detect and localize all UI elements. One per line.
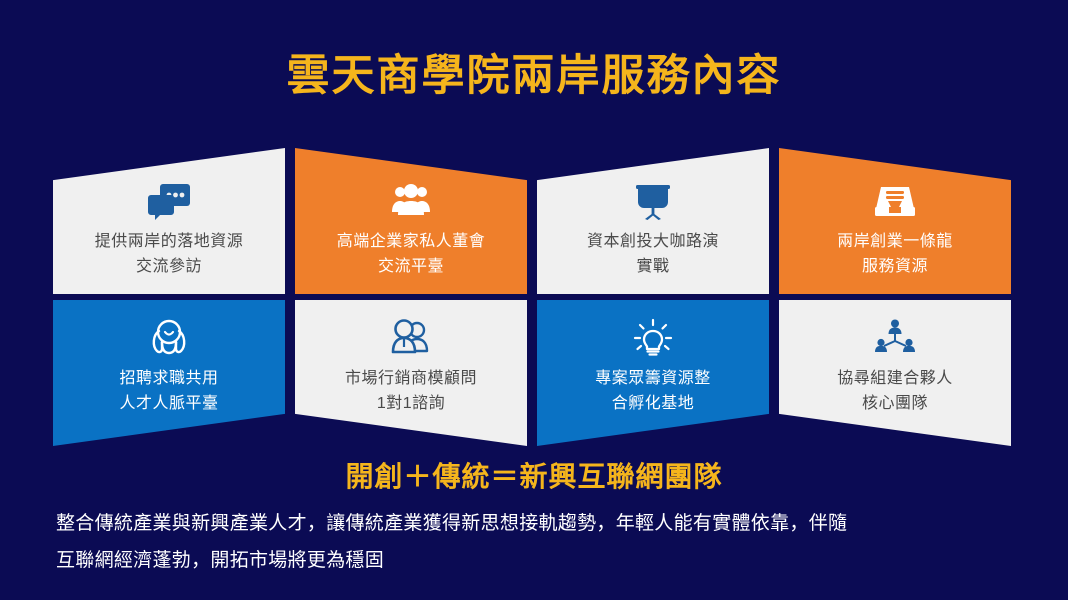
service-card-crowdfunding-incubator[interactable]: 專案眾籌資源整 合孵化基地 bbox=[537, 300, 769, 446]
card-line-2: 服務資源 bbox=[837, 255, 953, 280]
card-text: 高端企業家私人董會 交流平臺 bbox=[337, 230, 486, 280]
card-text: 協尋組建合夥人 核心團隊 bbox=[837, 367, 953, 417]
page-title: 雲天商學院兩岸服務內容 bbox=[0, 53, 1068, 100]
person-smile-icon bbox=[146, 317, 192, 359]
card-row-top: 提供兩岸的落地資源 交流參訪 bbox=[53, 148, 1015, 294]
card-text: 提供兩岸的落地資源 交流參訪 bbox=[95, 230, 244, 280]
body-line-2: 互聯網經濟蓬勃，開拓市場將更為穩固 bbox=[56, 542, 1026, 579]
card-line-2: 1對1諮詢 bbox=[345, 392, 477, 417]
card-content: 協尋組建合夥人 核心團隊 bbox=[779, 300, 1011, 446]
card-text: 專案眾籌資源整 合孵化基地 bbox=[595, 367, 711, 417]
card-line-1: 資本創投大咖路演 bbox=[587, 230, 719, 255]
inbox-tray-icon bbox=[872, 180, 918, 222]
card-line-1: 招聘求職共用 bbox=[119, 367, 218, 392]
card-content: 市場行銷商模顧問 1對1諮詢 bbox=[295, 300, 527, 446]
card-line-1: 協尋組建合夥人 bbox=[837, 367, 953, 392]
card-line-1: 兩岸創業一條龍 bbox=[837, 230, 953, 255]
card-line-1: 高端企業家私人董會 bbox=[337, 230, 486, 255]
card-text: 兩岸創業一條龍 服務資源 bbox=[837, 230, 953, 280]
card-line-2: 合孵化基地 bbox=[595, 392, 711, 417]
card-line-1: 專案眾籌資源整 bbox=[595, 367, 711, 392]
slide-canvas: 雲天商學院兩岸服務內容 bbox=[0, 0, 1068, 600]
service-card-one-stop-startup[interactable]: 兩岸創業一條龍 服務資源 bbox=[779, 148, 1011, 294]
card-line-2: 人才人脈平臺 bbox=[119, 392, 218, 417]
card-content: 提供兩岸的落地資源 交流參訪 bbox=[53, 148, 285, 294]
service-card-grid: 提供兩岸的落地資源 交流參訪 bbox=[53, 148, 1015, 446]
card-text: 招聘求職共用 人才人脈平臺 bbox=[119, 367, 218, 417]
card-content: 資本創投大咖路演 實戰 bbox=[537, 148, 769, 294]
card-line-1: 市場行銷商模顧問 bbox=[345, 367, 477, 392]
card-line-1: 提供兩岸的落地資源 bbox=[95, 230, 244, 255]
card-text: 市場行銷商模顧問 1對1諮詢 bbox=[345, 367, 477, 417]
service-card-entrepreneur-board[interactable]: 高端企業家私人董會 交流平臺 bbox=[295, 148, 527, 294]
card-line-2: 交流平臺 bbox=[337, 255, 486, 280]
card-content: 兩岸創業一條龍 服務資源 bbox=[779, 148, 1011, 294]
team-network-icon bbox=[872, 317, 918, 359]
card-content: 專案眾籌資源整 合孵化基地 bbox=[537, 300, 769, 446]
service-card-marketing-consult[interactable]: 市場行銷商模顧問 1對1諮詢 bbox=[295, 300, 527, 446]
slide-body-text: 整合傳統產業與新興產業人才，讓傳統產業獲得新思想接軌趨勢，年輕人能有實體依靠，伴… bbox=[56, 505, 1026, 579]
chat-bubbles-icon bbox=[146, 180, 192, 222]
group-people-icon bbox=[388, 180, 434, 222]
card-row-bottom: 招聘求職共用 人才人脈平臺 bbox=[53, 300, 1015, 446]
service-card-talent-platform[interactable]: 招聘求職共用 人才人脈平臺 bbox=[53, 300, 285, 446]
body-line-1: 整合傳統產業與新興產業人才，讓傳統產業獲得新思想接軌趨勢，年輕人能有實體依靠，伴… bbox=[56, 505, 1026, 542]
card-line-2: 實戰 bbox=[587, 255, 719, 280]
card-content: 招聘求職共用 人才人脈平臺 bbox=[53, 300, 285, 446]
service-card-capital-roadshow[interactable]: 資本創投大咖路演 實戰 bbox=[537, 148, 769, 294]
slide-subtitle: 開創＋傳統＝新興互聯網團隊 bbox=[0, 455, 1068, 495]
presentation-board-icon bbox=[630, 180, 676, 222]
service-card-core-team[interactable]: 協尋組建合夥人 核心團隊 bbox=[779, 300, 1011, 446]
card-text: 資本創投大咖路演 實戰 bbox=[587, 230, 719, 280]
card-line-2: 核心團隊 bbox=[837, 392, 953, 417]
service-card-landing-resources[interactable]: 提供兩岸的落地資源 交流參訪 bbox=[53, 148, 285, 294]
card-content: 高端企業家私人董會 交流平臺 bbox=[295, 148, 527, 294]
card-line-2: 交流參訪 bbox=[95, 255, 244, 280]
two-people-outline-icon bbox=[388, 317, 434, 359]
lightbulb-idea-icon bbox=[630, 317, 676, 359]
